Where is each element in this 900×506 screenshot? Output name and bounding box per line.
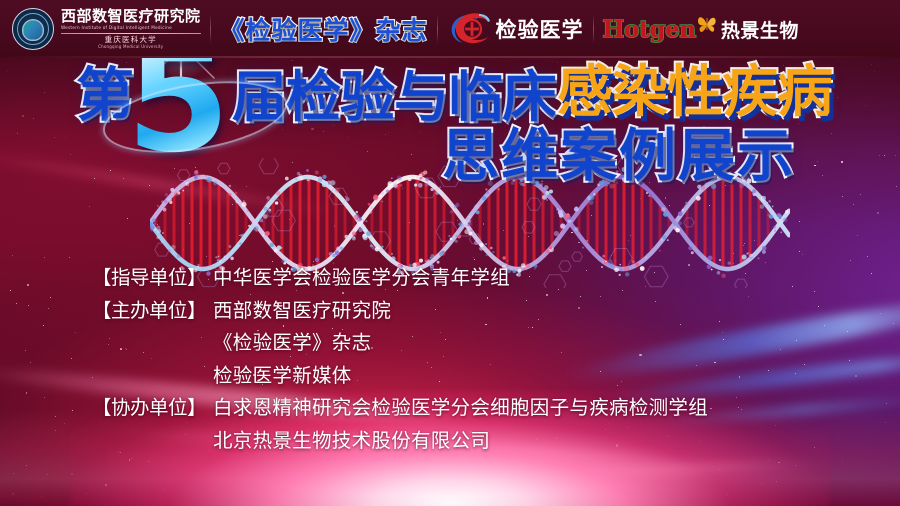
hotgen-wordmark: Hotgen — [603, 16, 696, 43]
detail-value: 西部数智医疗研究院 — [213, 301, 391, 321]
logo-hotgen: Hotgen 热景生物 — [603, 0, 799, 58]
detail-value: 《检验医学》杂志 — [213, 333, 371, 353]
detail-row: 【主办单位】《检验医学》杂志 — [0, 333, 900, 353]
detail-row: 【主办单位】检验医学新媒体 — [0, 366, 900, 386]
logo-university-en: Chongqing Medical University — [61, 45, 201, 49]
detail-label: 【主办单位】 — [92, 301, 213, 321]
logo-university-cn: 重庆医科大学 — [61, 36, 201, 44]
hotgen-cn-name: 热景生物 — [721, 16, 799, 43]
detail-label: 【协办单位】 — [92, 398, 213, 418]
lab-medicine-label: 检验医学 — [496, 14, 584, 44]
conference-poster: 第 — [0, 0, 900, 506]
detail-value: 白求恩精神研究会检验医学分会细胞因子与疾病检测学组 — [213, 398, 708, 418]
divider — [593, 14, 594, 44]
detail-value: 北京热景生物技术股份有限公司 — [213, 431, 490, 451]
detail-row: 【协办单位】白求恩精神研究会检验医学分会细胞因子与疾病检测学组 — [0, 398, 900, 418]
logo-lab-medicine: 检验医学 — [447, 0, 584, 58]
logo-en-name: Western Institute of Digital Intelligent… — [61, 26, 201, 30]
divider — [437, 14, 438, 44]
logo-lab-medicine-journal: 《检验医学》杂志 — [220, 0, 428, 58]
detail-row: 【主办单位】西部数智医疗研究院 — [0, 301, 900, 321]
detail-row: 【指导单位】中华医学会检验医学分会青年学组 — [0, 268, 900, 288]
detail-value: 检验医学新媒体 — [213, 366, 352, 386]
logo-text-block: 西部数智医疗研究院 Western Institute of Digital I… — [61, 9, 201, 48]
divider — [61, 33, 201, 34]
title-line2: 思维案例展示 — [442, 110, 796, 192]
detail-row: 【协办单位】北京热景生物技术股份有限公司 — [0, 431, 900, 451]
detail-label: 【指导单位】 — [92, 268, 213, 288]
institute-seal-icon — [12, 8, 54, 50]
medical-cross-swoosh-icon — [447, 12, 491, 46]
logo-western-institute: 西部数智医疗研究院 Western Institute of Digital I… — [12, 0, 201, 58]
journal-title: 《检验医学》杂志 — [220, 11, 428, 47]
butterfly-icon — [697, 14, 717, 36]
sponsor-logo-bar: 西部数智医疗研究院 Western Institute of Digital I… — [0, 0, 900, 58]
organizer-details: 【指导单位】中华医学会检验医学分会青年学组【主办单位】西部数智医疗研究院【主办单… — [0, 268, 900, 463]
divider — [210, 14, 211, 44]
logo-cn-name: 西部数智医疗研究院 — [61, 9, 201, 24]
detail-value: 中华医学会检验医学分会青年学组 — [213, 268, 510, 288]
